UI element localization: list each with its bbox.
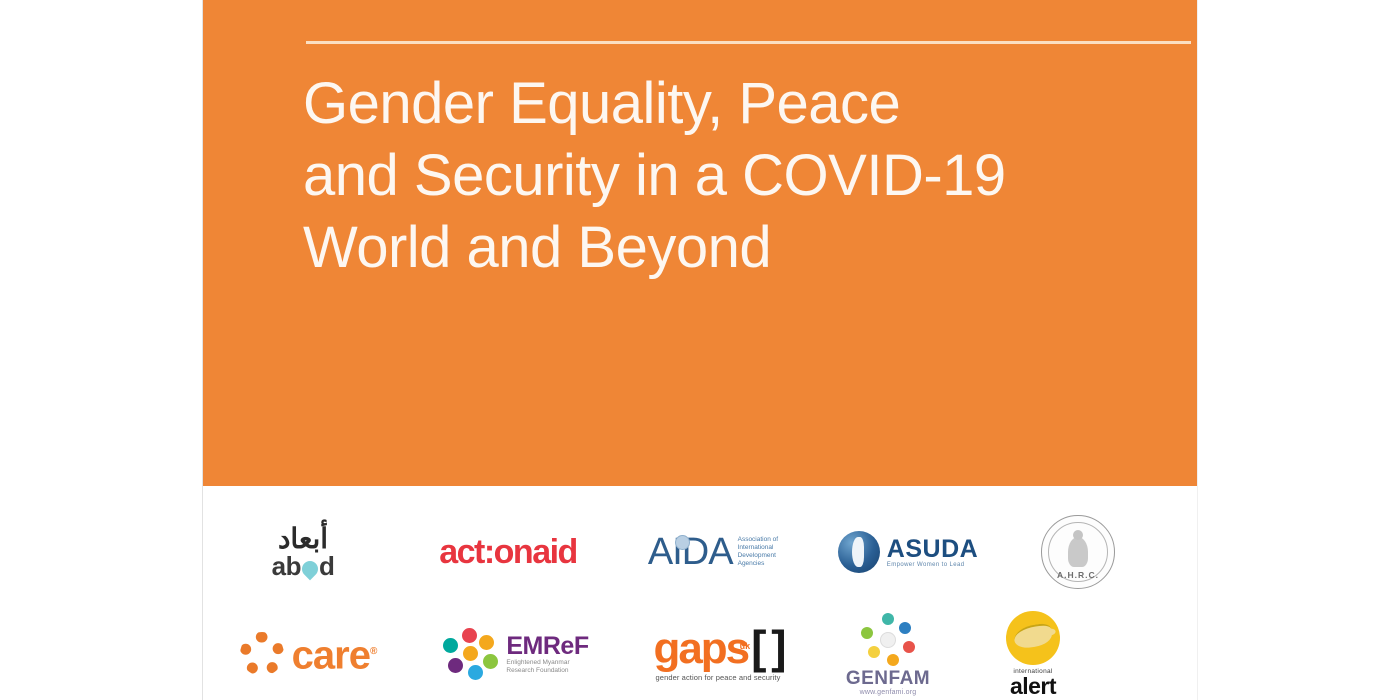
emref-figure-1 bbox=[462, 628, 477, 643]
aida-tagline-line-3: Development bbox=[738, 552, 778, 560]
genfam-star-icon bbox=[860, 613, 916, 667]
abaad-droplet-icon bbox=[299, 558, 322, 581]
logo-gaps: gapsuk [ ] gender action for peace and s… bbox=[618, 608, 818, 700]
care-ring-icon bbox=[240, 632, 284, 676]
care-lockup: care® bbox=[240, 632, 377, 676]
care-wordmark: care® bbox=[292, 632, 377, 675]
aida-tagline-line-2: International bbox=[738, 544, 778, 552]
genfam-url: www.genfami.org bbox=[860, 689, 917, 696]
partner-logo-row-2: care® bbox=[203, 604, 1198, 700]
logo-care: care® bbox=[203, 608, 413, 700]
aida-lockup: AIDA Association of International Develo… bbox=[648, 531, 778, 574]
logo-emref: EMReF Enlightened Myanmar Research Found… bbox=[413, 608, 618, 700]
aida-tagline: Association of International Development… bbox=[738, 536, 778, 568]
asuda-text-block: ASUDA Empower Women to Lead bbox=[887, 537, 978, 568]
logo-ahrc: A.H.R.C. bbox=[1003, 506, 1153, 598]
emref-wordmark: EMReF bbox=[506, 633, 588, 659]
ahrc-figure-icon bbox=[1068, 537, 1088, 567]
logo-international-alert: international alert bbox=[958, 608, 1108, 700]
genfam-node-1 bbox=[882, 613, 894, 625]
emref-figure-3 bbox=[483, 654, 498, 669]
genfam-node-6 bbox=[861, 627, 873, 639]
abaad-latin-prefix: ab bbox=[272, 551, 301, 581]
genfam-wordmark: GENFAM bbox=[846, 669, 930, 689]
title-line-3: World and Beyond bbox=[303, 212, 1133, 284]
logo-aida: AIDA Association of International Develo… bbox=[613, 506, 813, 598]
gaps-wordmark-suffix: uk bbox=[740, 625, 751, 667]
genfam-node-4 bbox=[887, 654, 899, 666]
gaps-brackets-icon: [ ] bbox=[751, 626, 782, 668]
gaps-lockup: gapsuk [ ] bbox=[653, 626, 782, 670]
emref-figure-4 bbox=[468, 665, 483, 680]
asuda-globe-icon bbox=[838, 531, 880, 573]
emref-lockup: EMReF Enlightened Myanmar Research Found… bbox=[442, 628, 588, 680]
screenshot-canvas: Gender Equality, Peace and Security in a… bbox=[0, 0, 1400, 700]
logo-asuda: ASUDA Empower Women to Lead bbox=[813, 506, 1003, 598]
emref-tagline: Enlightened Myanmar Research Foundation bbox=[506, 659, 588, 675]
title-line-1: Gender Equality, Peace bbox=[303, 68, 1133, 140]
emref-tagline-line-2: Research Foundation bbox=[506, 667, 588, 675]
logo-actionaid: act:onaid bbox=[403, 506, 613, 598]
cover-hero-band: Gender Equality, Peace and Security in a… bbox=[203, 0, 1198, 486]
emref-figure-center bbox=[463, 646, 478, 661]
logo-abaad: أبعاد abd bbox=[203, 506, 403, 598]
ahrc-seal-icon: A.H.R.C. bbox=[1041, 515, 1115, 589]
alert-wordmark: alert bbox=[1010, 675, 1056, 698]
asuda-wordmark: ASUDA bbox=[887, 537, 978, 562]
asuda-lockup: ASUDA Empower Women to Lead bbox=[838, 531, 978, 573]
gaps-wordmark-text: gaps bbox=[653, 624, 748, 673]
abaad-arabic-text: أبعاد bbox=[278, 525, 328, 553]
genfam-node-5 bbox=[868, 646, 880, 658]
care-trademark: ® bbox=[370, 646, 376, 657]
genfam-node-2 bbox=[899, 622, 911, 634]
genfam-node-3 bbox=[903, 641, 915, 653]
gaps-tagline: gender action for peace and security bbox=[656, 673, 781, 682]
abaad-latin-suffix: d bbox=[319, 551, 334, 581]
aida-tagline-line-1: Association of bbox=[738, 536, 778, 544]
aida-wordmark: AIDA bbox=[648, 531, 733, 574]
partner-logo-row-1: أبعاد abd act:onaid AIDA Associ bbox=[203, 502, 1198, 602]
emref-tagline-line-1: Enlightened Myanmar bbox=[506, 659, 588, 667]
emref-figure-2 bbox=[479, 635, 494, 650]
gaps-wordmark: gapsuk bbox=[653, 628, 748, 670]
actionaid-wordmark: act:onaid bbox=[439, 533, 577, 572]
page-title: Gender Equality, Peace and Security in a… bbox=[303, 68, 1133, 284]
emref-figure-6 bbox=[443, 638, 458, 653]
alert-dove-icon bbox=[1006, 611, 1060, 665]
title-divider-rule bbox=[306, 41, 1191, 44]
emref-text-block: EMReF Enlightened Myanmar Research Found… bbox=[506, 633, 588, 675]
emref-figure-5 bbox=[448, 658, 463, 673]
ahrc-abbreviation: A.H.R.C. bbox=[1042, 570, 1114, 580]
logo-genfam: GENFAM www.genfami.org bbox=[818, 608, 958, 700]
abaad-latin-text: abd bbox=[272, 553, 335, 579]
aida-wordmark-text: AIDA bbox=[648, 531, 733, 573]
care-wordmark-text: care bbox=[292, 634, 370, 678]
aida-tagline-line-4: Agencies bbox=[738, 560, 778, 568]
partner-logos-section: أبعاد abd act:onaid AIDA Associ bbox=[203, 486, 1198, 700]
title-line-2: and Security in a COVID-19 bbox=[303, 140, 1133, 212]
emref-people-icon bbox=[442, 628, 498, 680]
aida-globe-icon bbox=[675, 535, 690, 550]
alert-dove-shape bbox=[1013, 622, 1054, 649]
genfam-node-center bbox=[880, 632, 896, 648]
document-page: Gender Equality, Peace and Security in a… bbox=[202, 0, 1198, 700]
